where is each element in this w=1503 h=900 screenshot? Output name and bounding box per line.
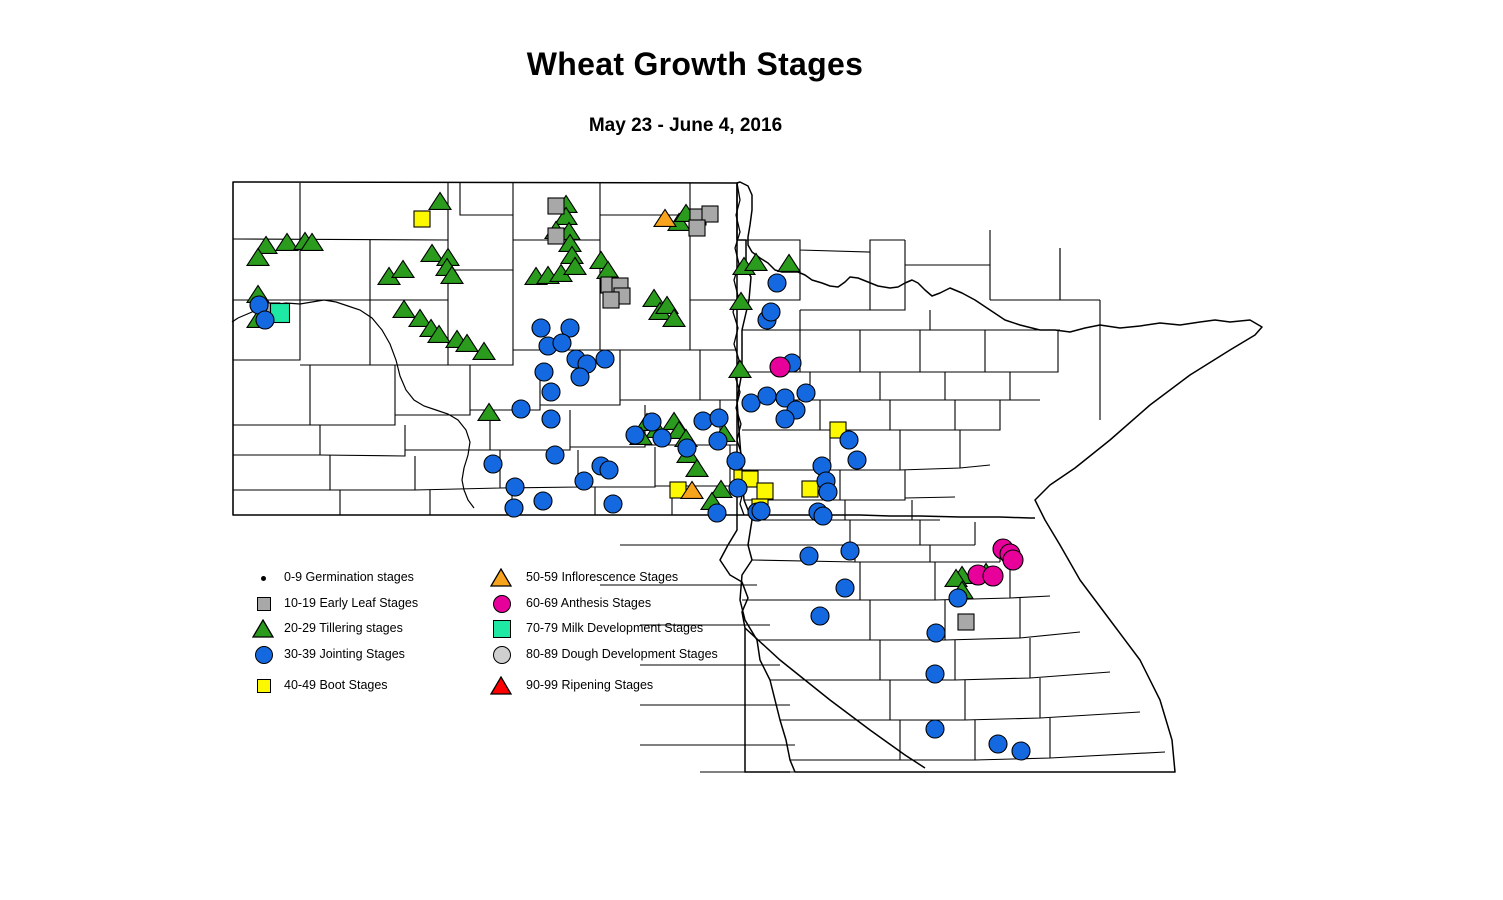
gray-square-icon xyxy=(250,592,280,617)
map-marker-30-39 xyxy=(546,446,564,464)
map-marker-30-39 xyxy=(926,720,944,738)
map-marker-30-39 xyxy=(596,350,614,368)
map-marker-30-39 xyxy=(505,499,523,517)
map-marker-30-39 xyxy=(532,319,550,337)
map-marker-30-39 xyxy=(600,461,618,479)
legend-label: 10-19 Early Leaf Stages xyxy=(284,596,418,610)
map-marker-30-39 xyxy=(797,384,815,402)
lightgray-circle-icon xyxy=(488,643,518,668)
map-marker-40-49 xyxy=(414,211,430,227)
map-marker-30-39 xyxy=(1012,742,1030,760)
map-marker-20-29 xyxy=(392,260,414,277)
map-marker-30-39 xyxy=(694,412,712,430)
map-marker-40-49 xyxy=(757,483,773,499)
map-marker-30-39 xyxy=(626,426,644,444)
legend: 0-9 Germination stages 10-19 Early Leaf … xyxy=(250,566,730,701)
map-marker-30-39 xyxy=(534,492,552,510)
orange-triangle-icon xyxy=(488,566,518,591)
map-marker-30-39 xyxy=(840,431,858,449)
map-marker-30-39 xyxy=(841,542,859,560)
map-marker-50-59 xyxy=(654,209,676,226)
map-marker-30-39 xyxy=(643,413,661,431)
map-marker-10-19 xyxy=(603,292,619,308)
map-marker-30-39 xyxy=(256,311,274,329)
map-marker-30-39 xyxy=(708,504,726,522)
map-marker-30-39 xyxy=(848,451,866,469)
map-marker-60-69 xyxy=(770,357,790,377)
legend-label: 70-79 Milk Development Stages xyxy=(526,621,703,635)
map-marker-30-39 xyxy=(814,507,832,525)
map-marker-10-19 xyxy=(689,220,705,236)
map-marker-20-29 xyxy=(778,254,800,271)
legend-column-right: 50-59 Inflorescence Stages 60-69 Anthesi… xyxy=(484,566,734,699)
map-marker-30-39 xyxy=(535,363,553,381)
map-marker-30-39 xyxy=(678,439,696,457)
map-marker-30-39 xyxy=(727,452,745,470)
map-marker-30-39 xyxy=(729,479,747,497)
map-marker-20-29 xyxy=(729,360,751,377)
map-marker-30-39 xyxy=(553,334,571,352)
map-marker-30-39 xyxy=(742,394,760,412)
map-marker-30-39 xyxy=(604,495,622,513)
map-marker-20-29 xyxy=(421,244,443,261)
map-marker-30-39 xyxy=(811,607,829,625)
map-marker-20-29 xyxy=(478,403,500,420)
legend-label: 0-9 Germination stages xyxy=(284,570,414,584)
map-marker-30-39 xyxy=(819,483,837,501)
map-marker-30-39 xyxy=(836,579,854,597)
legend-label: 40-49 Boot Stages xyxy=(284,678,388,692)
map-marker-30-39 xyxy=(709,432,727,450)
legend-item-anthesis: 60-69 Anthesis Stages xyxy=(484,592,734,618)
legend-label: 30-39 Jointing Stages xyxy=(284,647,405,661)
map-marker-30-39 xyxy=(800,547,818,565)
map-marker-30-39 xyxy=(768,274,786,292)
small-dot-icon xyxy=(250,566,280,591)
map-marker-10-19 xyxy=(548,228,564,244)
blue-circle-icon xyxy=(250,643,280,668)
legend-item-germination: 0-9 Germination stages xyxy=(250,566,450,592)
map-marker-30-39 xyxy=(653,429,671,447)
legend-item-ripening: 90-99 Ripening Stages xyxy=(484,668,734,699)
legend-label: 80-89 Dough Development Stages xyxy=(526,647,718,661)
legend-item-inflorescence: 50-59 Inflorescence Stages xyxy=(484,566,734,592)
map-marker-30-39 xyxy=(512,400,530,418)
map-marker-30-39 xyxy=(926,665,944,683)
map-marker-30-39 xyxy=(542,410,560,428)
map-marker-30-39 xyxy=(762,303,780,321)
map-marker-60-69 xyxy=(983,566,1003,586)
magenta-circle-icon xyxy=(488,592,518,617)
map-marker-30-39 xyxy=(542,383,560,401)
map-marker-30-39 xyxy=(949,589,967,607)
map-marker-30-39 xyxy=(758,387,776,405)
map-marker-30-39 xyxy=(776,410,794,428)
map-marker-10-19 xyxy=(958,614,974,630)
legend-column-left: 0-9 Germination stages 10-19 Early Leaf … xyxy=(250,566,450,699)
map-marker-20-29 xyxy=(745,253,767,270)
map-marker-30-39 xyxy=(484,455,502,473)
map-marker-30-39 xyxy=(927,624,945,642)
map-marker-30-39 xyxy=(506,478,524,496)
map-marker-30-39 xyxy=(575,472,593,490)
map-marker-30-39 xyxy=(710,409,728,427)
legend-item-dough: 80-89 Dough Development Stages xyxy=(484,643,734,669)
map-marker-40-49 xyxy=(802,481,818,497)
legend-item-milk: 70-79 Milk Development Stages xyxy=(484,617,734,643)
legend-label: 90-99 Ripening Stages xyxy=(526,678,653,692)
red-triangle-icon xyxy=(488,674,518,699)
map-marker-30-39 xyxy=(752,502,770,520)
legend-label: 20-29 Tillering stages xyxy=(284,621,403,635)
legend-item-jointing: 30-39 Jointing Stages xyxy=(250,643,450,669)
legend-label: 50-59 Inflorescence Stages xyxy=(526,570,678,584)
legend-label: 60-69 Anthesis Stages xyxy=(526,596,651,610)
legend-item-boot: 40-49 Boot Stages xyxy=(250,668,450,699)
map-canvas xyxy=(0,0,1503,900)
legend-item-tillering: 20-29 Tillering stages xyxy=(250,617,450,643)
legend-item-early-leaf: 10-19 Early Leaf Stages xyxy=(250,592,450,618)
map-marker-60-69 xyxy=(1003,550,1023,570)
map-marker-10-19 xyxy=(548,198,564,214)
wheat-growth-stages-map-figure: Wheat Growth Stages May 23 - June 4, 201… xyxy=(0,0,1503,900)
yellow-square-icon xyxy=(250,674,280,699)
springgreen-square-icon xyxy=(488,617,518,642)
map-marker-30-39 xyxy=(989,735,1007,753)
green-triangle-icon xyxy=(250,617,280,642)
map-marker-20-29 xyxy=(393,300,415,317)
map-marker-30-39 xyxy=(571,368,589,386)
